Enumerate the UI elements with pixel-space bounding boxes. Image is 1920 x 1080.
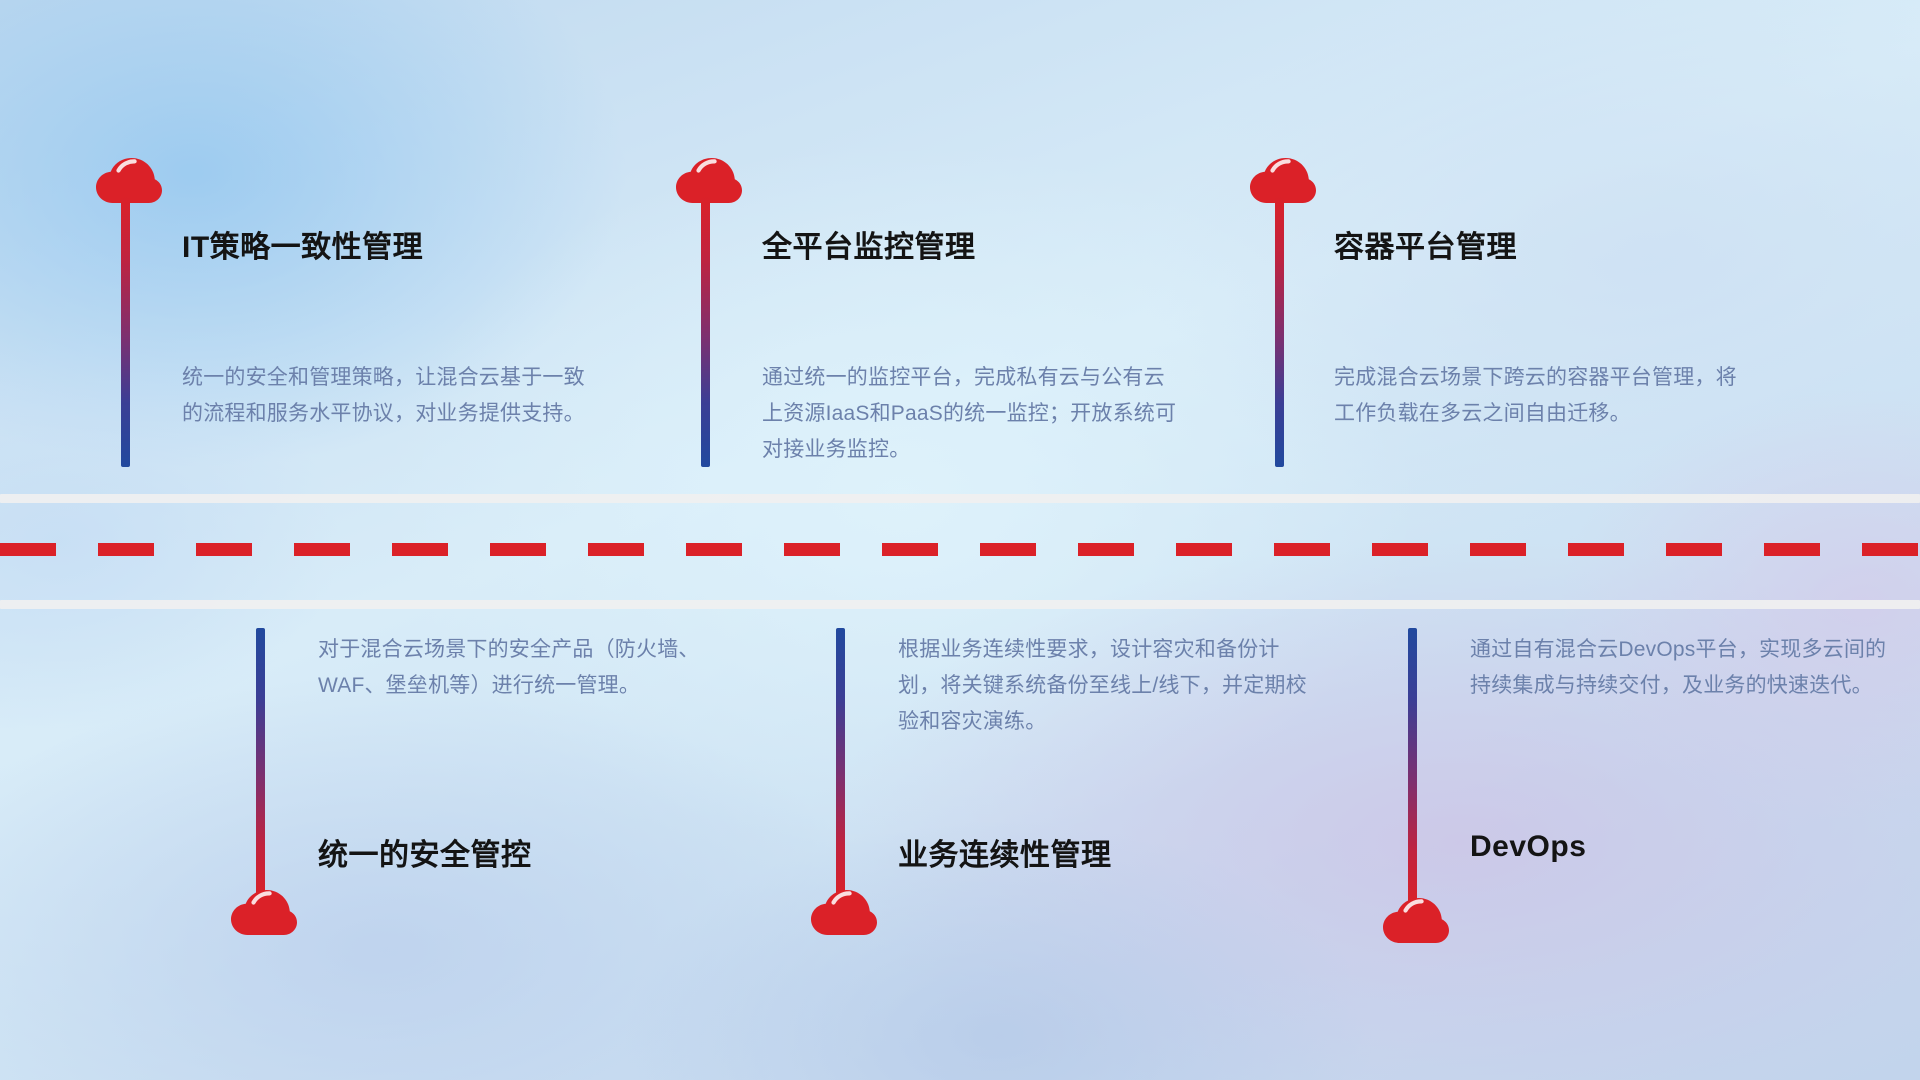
bottom-body-1: 对于混合云场景下的安全产品（防火墙、WAF、堡垒机等）进行统一管理。 [318,632,738,704]
cloud-icon [1383,898,1449,944]
bottom-title-1: 统一的安全管控 [318,830,532,874]
diagram-stage: IT策略一致性管理 统一的安全和管理策略，让混合云基于一致的流程和服务水平协议，… [0,0,1920,1080]
road-center-dashed-line [0,543,1920,556]
bottom-title-3: DevOps [1470,830,1586,864]
bottom-connector-line-3 [1408,628,1417,908]
top-connector-line-2 [701,197,710,467]
bottom-connector-line-2 [836,628,845,900]
bottom-connector-line-1 [256,628,265,900]
top-body-3: 完成混合云场景下跨云的容器平台管理，将工作负载在多云之间自由迁移。 [1334,360,1754,432]
top-connector-line-3 [1275,197,1284,467]
cloud-icon [231,890,297,936]
bottom-title-2: 业务连续性管理 [898,830,1112,874]
road-edge-top [0,494,1920,503]
top-title-2: 全平台监控管理 [762,222,976,266]
bottom-body-2: 根据业务连续性要求，设计容灾和备份计划，将关键系统备份至线上/线下，并定期校验和… [898,632,1318,740]
top-connector-line-1 [121,197,130,467]
bottom-body-3: 通过自有混合云DevOps平台，实现多云间的持续集成与持续交付，及业务的快速迭代… [1470,632,1890,704]
cloud-icon [811,890,877,936]
top-body-2: 通过统一的监控平台，完成私有云与公有云上资源IaaS和PaaS的统一监控；开放系… [762,360,1182,468]
road-edge-bottom [0,600,1920,609]
top-title-3: 容器平台管理 [1334,222,1517,266]
top-title-1: IT策略一致性管理 [182,222,423,266]
top-body-1: 统一的安全和管理策略，让混合云基于一致的流程和服务水平协议，对业务提供支持。 [182,360,602,432]
